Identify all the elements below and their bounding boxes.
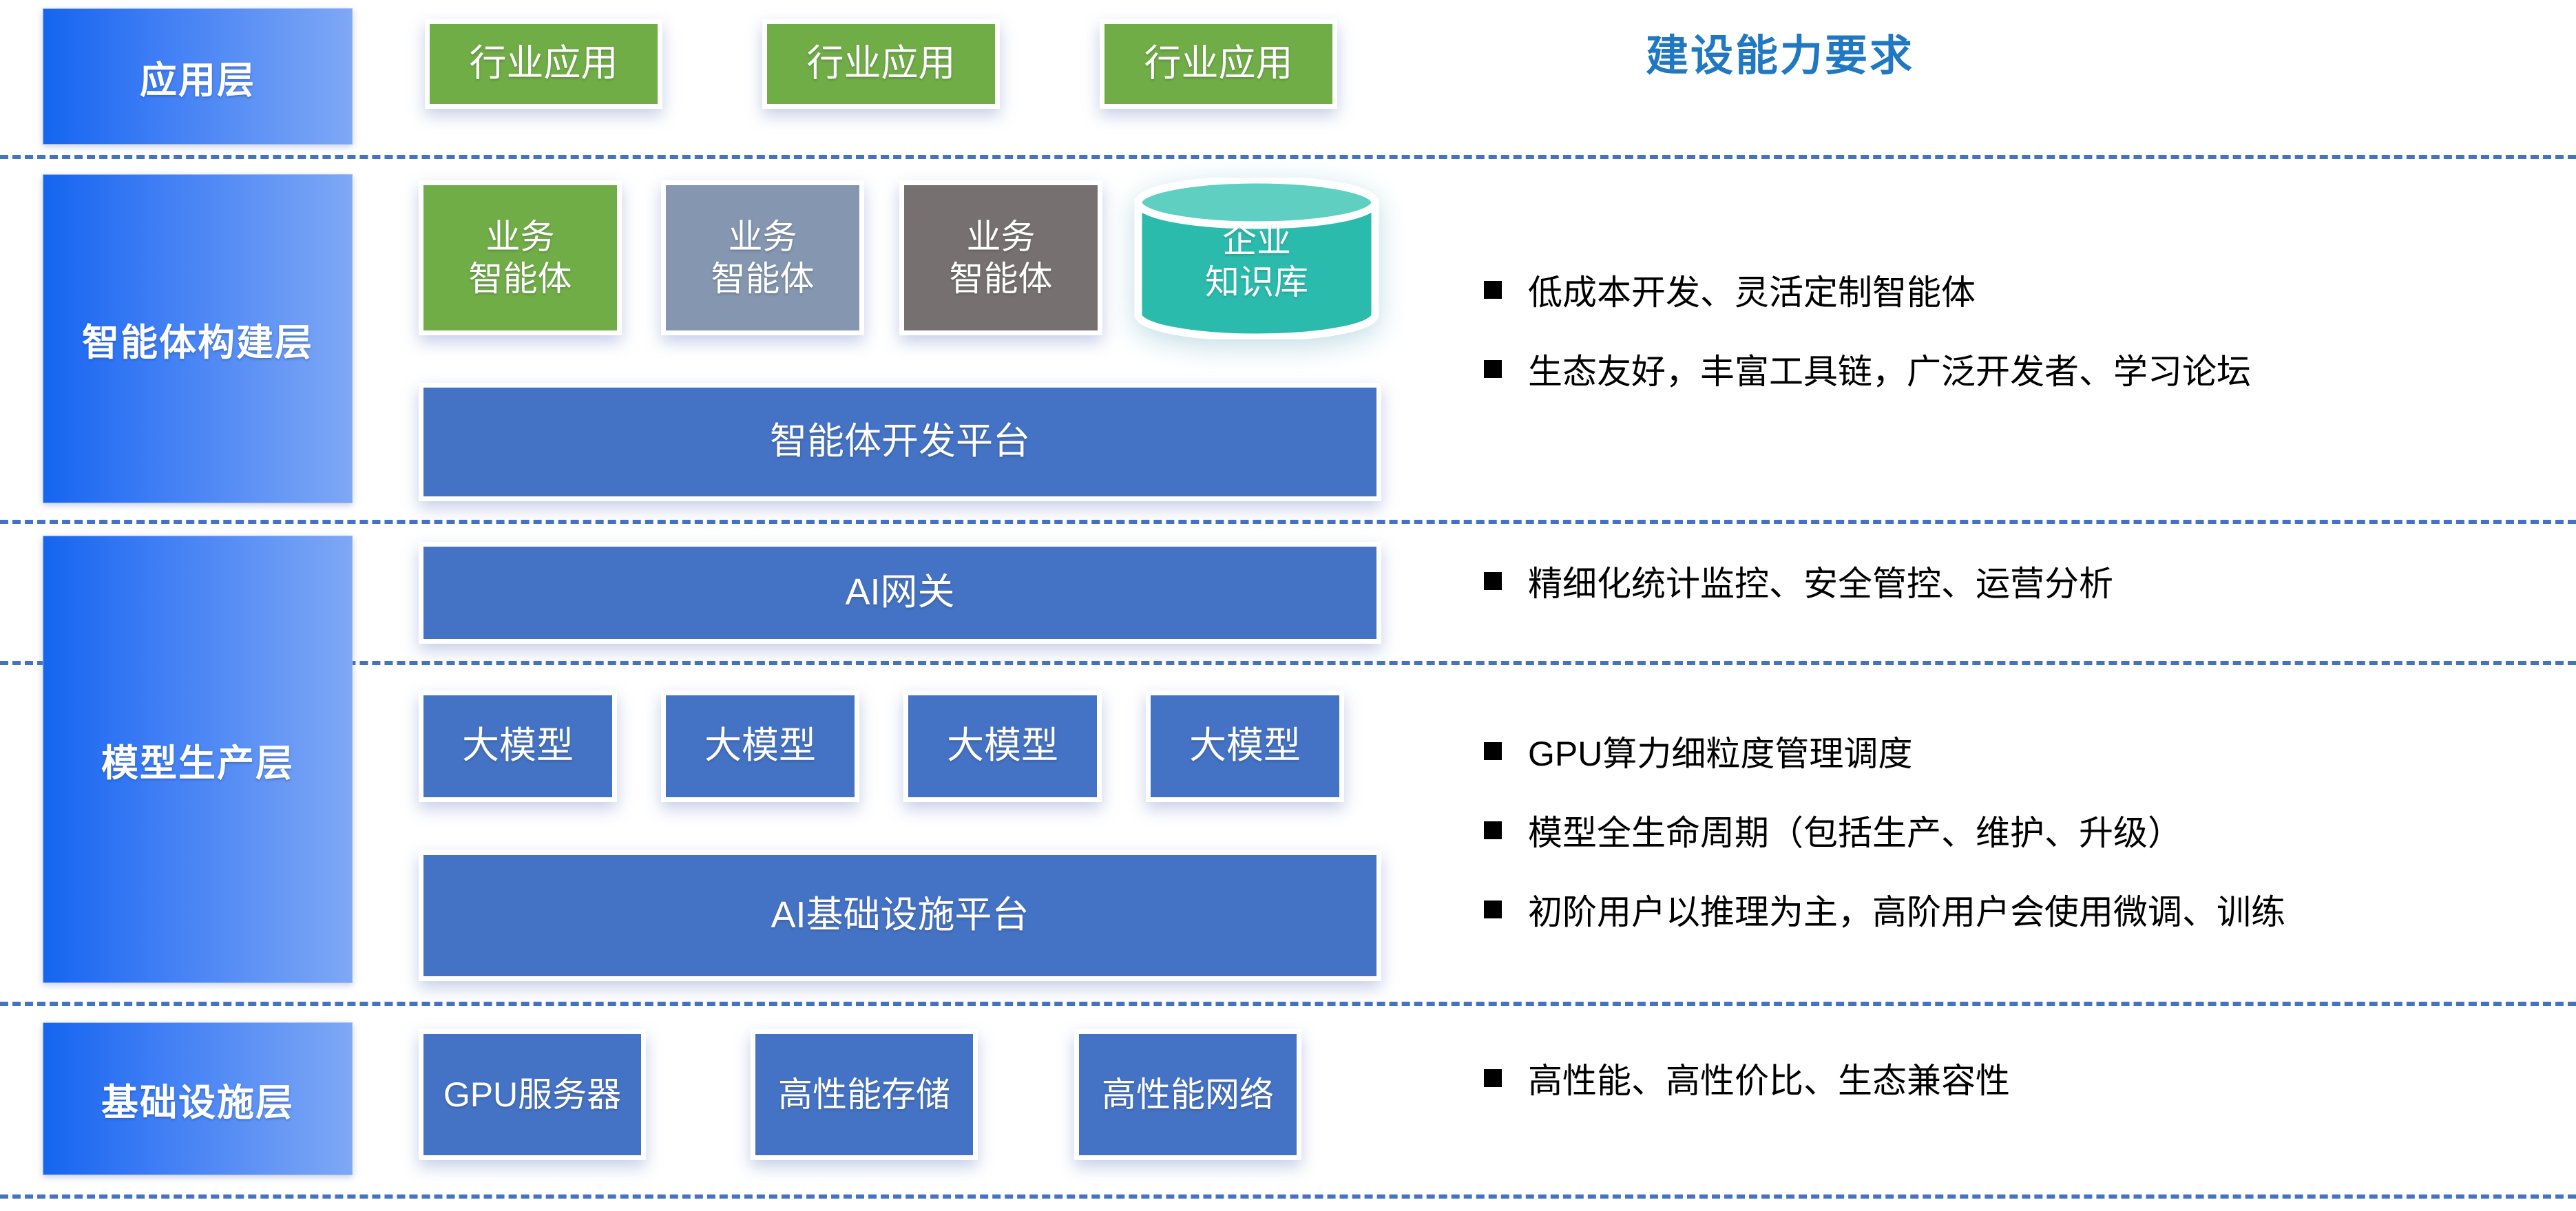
app-box-2[interactable]: 行业应用	[762, 19, 1000, 109]
business-agent-box-3[interactable]: 业务 智能体	[899, 180, 1102, 335]
bullet-marker-icon	[1484, 360, 1502, 378]
cylinder-shape-icon	[1133, 178, 1381, 339]
business-agent-box-2[interactable]: 业务 智能体	[661, 180, 864, 335]
divider-application	[0, 155, 2576, 159]
infra-box-gpu-server[interactable]: GPU服务器	[419, 1029, 646, 1160]
bullet-infra-1: 高性能、高性价比、生态兼容性	[1484, 1053, 2010, 1103]
ai-infra-platform-label: AI基础设施平台	[771, 893, 1029, 938]
business-agent-box-2-line2: 智能体	[711, 258, 815, 300]
bullet-model-1: GPU算力细粒度管理调度	[1484, 726, 1912, 776]
business-agent-box-3-line1: 业务	[967, 216, 1036, 258]
app-box-1[interactable]: 行业应用	[425, 19, 662, 109]
bullet-gateway-1: 精细化统计监控、安全管控、运营分析	[1484, 556, 2113, 606]
large-model-box-1-label: 大模型	[462, 724, 574, 769]
layer-label-model-production-text: 模型生产层	[101, 733, 294, 787]
layer-label-infrastructure[interactable]: 基础设施层	[43, 1022, 353, 1175]
layer-label-application-text: 应用层	[140, 50, 255, 104]
infra-box-network-label: 高性能网络	[1102, 1074, 1274, 1116]
large-model-box-2-label: 大模型	[704, 724, 816, 769]
large-model-box-3-label: 大模型	[947, 724, 1058, 769]
large-model-box-4[interactable]: 大模型	[1146, 691, 1344, 802]
bullet-model-1-text: GPU算力细粒度管理调度	[1528, 726, 1912, 776]
large-model-box-1[interactable]: 大模型	[419, 691, 617, 802]
divider-model-production	[0, 1002, 2576, 1006]
layer-label-agent-build[interactable]: 智能体构建层	[43, 174, 353, 503]
agent-dev-platform-label: 智能体开发平台	[770, 419, 1030, 465]
layer-label-model-production[interactable]: 模型生产层	[43, 536, 353, 983]
ai-gateway-bar[interactable]: AI网关	[419, 542, 1381, 644]
bullet-model-3: 初阶用户以推理为主，高阶用户会使用微调、训练	[1484, 885, 2285, 934]
app-box-2-label: 行业应用	[807, 41, 956, 87]
bullet-marker-icon	[1484, 281, 1502, 299]
layer-label-infrastructure-text: 基础设施层	[101, 1072, 294, 1126]
bullet-marker-icon	[1484, 572, 1502, 590]
bullet-agent-2: 生态友好，丰富工具链，广泛开发者、学习论坛	[1484, 344, 2251, 394]
divider-agent-build	[0, 520, 2576, 524]
bullet-marker-icon	[1484, 901, 1502, 918]
ai-infra-platform-bar[interactable]: AI基础设施平台	[419, 850, 1381, 981]
divider-infrastructure	[0, 1194, 2576, 1199]
ai-gateway-label: AI网关	[845, 570, 954, 615]
infra-box-gpu-server-label: GPU服务器	[443, 1074, 621, 1116]
bullet-model-2-text: 模型全生命周期（包括生产、维护、升级）	[1528, 805, 2182, 855]
large-model-box-2[interactable]: 大模型	[661, 691, 859, 802]
large-model-box-3[interactable]: 大模型	[903, 691, 1102, 802]
app-box-3[interactable]: 行业应用	[1100, 19, 1337, 109]
agent-dev-platform-bar[interactable]: 智能体开发平台	[419, 383, 1381, 501]
layer-label-agent-build-text: 智能体构建层	[82, 312, 313, 366]
bullet-marker-icon	[1484, 821, 1502, 839]
infra-box-storage-label: 高性能存储	[778, 1074, 950, 1116]
business-agent-box-1-line2: 智能体	[469, 258, 572, 300]
business-agent-box-3-line2: 智能体	[950, 258, 1053, 300]
infra-box-network[interactable]: 高性能网络	[1074, 1029, 1301, 1160]
bullet-gateway-1-text: 精细化统计监控、安全管控、运营分析	[1528, 556, 2113, 606]
right-panel-title: 建设能力要求	[1646, 21, 1914, 83]
bullet-marker-icon	[1484, 742, 1502, 760]
app-box-1-label: 行业应用	[470, 41, 618, 87]
enterprise-knowledge-base-cylinder[interactable]: 企业 知识库	[1133, 178, 1381, 339]
large-model-box-4-label: 大模型	[1189, 724, 1301, 769]
bullet-model-2: 模型全生命周期（包括生产、维护、升级）	[1484, 805, 2182, 855]
business-agent-box-1[interactable]: 业务 智能体	[419, 180, 622, 335]
bullet-agent-1-text: 低成本开发、灵活定制智能体	[1528, 265, 1976, 315]
infra-box-storage[interactable]: 高性能存储	[751, 1029, 978, 1160]
diagram-canvas: 应用层 智能体构建层 模型生产层 基础设施层 行业应用 行业应用 行业应用 业务…	[0, 0, 2576, 1211]
bullet-model-3-text: 初阶用户以推理为主，高阶用户会使用微调、训练	[1528, 885, 2285, 934]
bullet-agent-1: 低成本开发、灵活定制智能体	[1484, 265, 1976, 315]
divider-gateway	[0, 661, 2576, 665]
layer-label-application[interactable]: 应用层	[43, 8, 353, 145]
business-agent-box-1-line1: 业务	[486, 216, 555, 258]
bullet-infra-1-text: 高性能、高性价比、生态兼容性	[1528, 1053, 2010, 1103]
business-agent-box-2-line1: 业务	[729, 216, 797, 258]
bullet-marker-icon	[1484, 1069, 1502, 1087]
app-box-3-label: 行业应用	[1144, 41, 1293, 87]
bullet-agent-2-text: 生态友好，丰富工具链，广泛开发者、学习论坛	[1528, 344, 2251, 394]
